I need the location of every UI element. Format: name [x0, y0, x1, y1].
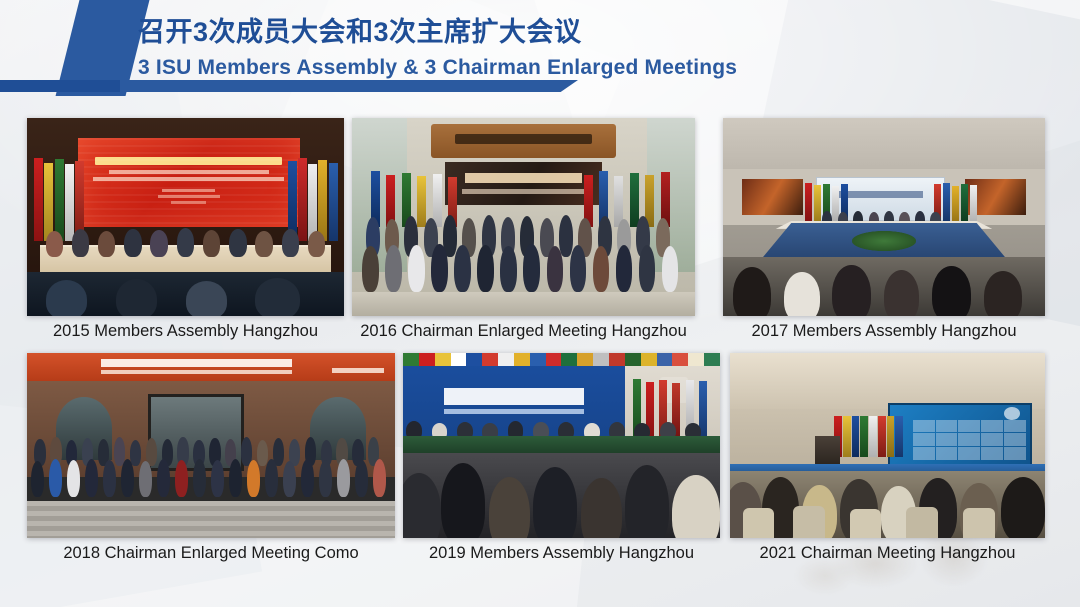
banner-title-cn-block: [95, 157, 281, 165]
photo-image-2017[interactable]: [723, 118, 1045, 316]
scene-steps: [27, 501, 395, 538]
video-conference-tiles: [913, 420, 1026, 461]
scene-red-banner: [78, 138, 300, 227]
photo-card-2016[interactable]: 2016 Chairman Enlarged Meeting Hangzhou: [352, 118, 695, 316]
banner-subtitle-block: [93, 177, 284, 181]
photo-grid: 2015 Members Assembly Hangzhou: [0, 0, 1080, 607]
photo-card-2017[interactable]: 2017 Members Assembly Hangzhou: [723, 118, 1045, 316]
scene-side-screen-left: [742, 179, 803, 215]
photo-card-2018[interactable]: 2018 Chairman Enlarged Meeting Como: [27, 353, 395, 538]
group-row-front: [31, 457, 392, 498]
photo-caption-2016: 2016 Chairman Enlarged Meeting Hangzhou: [352, 322, 695, 341]
banner-title-en-block: [462, 189, 585, 194]
photo-card-2015[interactable]: 2015 Members Assembly Hangzhou: [27, 118, 344, 316]
scene-audience: [403, 453, 720, 538]
photo-image-2015[interactable]: [27, 118, 344, 316]
flag-group-stage: [834, 416, 903, 457]
scene-floor: [352, 292, 695, 316]
scene-plants: [852, 231, 916, 251]
banner-subtitle-block: [109, 170, 269, 174]
photo-image-2019[interactable]: [403, 353, 720, 538]
banner-title-cn-block: [465, 173, 582, 183]
scene-audience: [723, 257, 1045, 316]
photo-caption-2017: 2017 Members Assembly Hangzhou: [723, 322, 1045, 341]
screen-title-block: [839, 191, 923, 198]
banner-place-block: [162, 189, 215, 192]
banner-title-cn-block: [101, 359, 292, 367]
arch-calligraphy-block: [455, 134, 592, 144]
scene-chairs: [730, 501, 1045, 538]
scene-foreground: [27, 272, 344, 316]
photo-card-2019[interactable]: 2019 Members Assembly Hangzhou: [403, 353, 720, 538]
screen-logo-icon: [1004, 407, 1020, 420]
banner-title-en-block: [101, 370, 292, 375]
banner-place-block: [158, 195, 220, 198]
scene-podium: [815, 436, 840, 466]
photo-caption-2015: 2015 Members Assembly Hangzhou: [27, 322, 344, 341]
banner-date-block: [171, 201, 207, 203]
scene-ceiling: [730, 353, 1045, 409]
banner-title-cn-block: [444, 388, 583, 405]
photo-card-2021[interactable]: 2021 Chairman Meeting Hangzhou: [730, 353, 1045, 538]
panel-people-row: [40, 225, 332, 257]
banner-date-block: [332, 368, 384, 373]
banner-flag-strip: [403, 353, 720, 366]
photo-caption-2018: 2018 Chairman Enlarged Meeting Como: [27, 544, 395, 563]
photo-caption-2019: 2019 Members Assembly Hangzhou: [403, 544, 720, 563]
photo-image-2016[interactable]: [352, 118, 695, 316]
banner-title-en-block: [444, 409, 583, 415]
group-row-front: [359, 241, 688, 292]
photo-image-2018[interactable]: [27, 353, 395, 538]
photo-image-2021[interactable]: [730, 353, 1045, 538]
photo-caption-2021: 2021 Chairman Meeting Hangzhou: [730, 544, 1045, 563]
